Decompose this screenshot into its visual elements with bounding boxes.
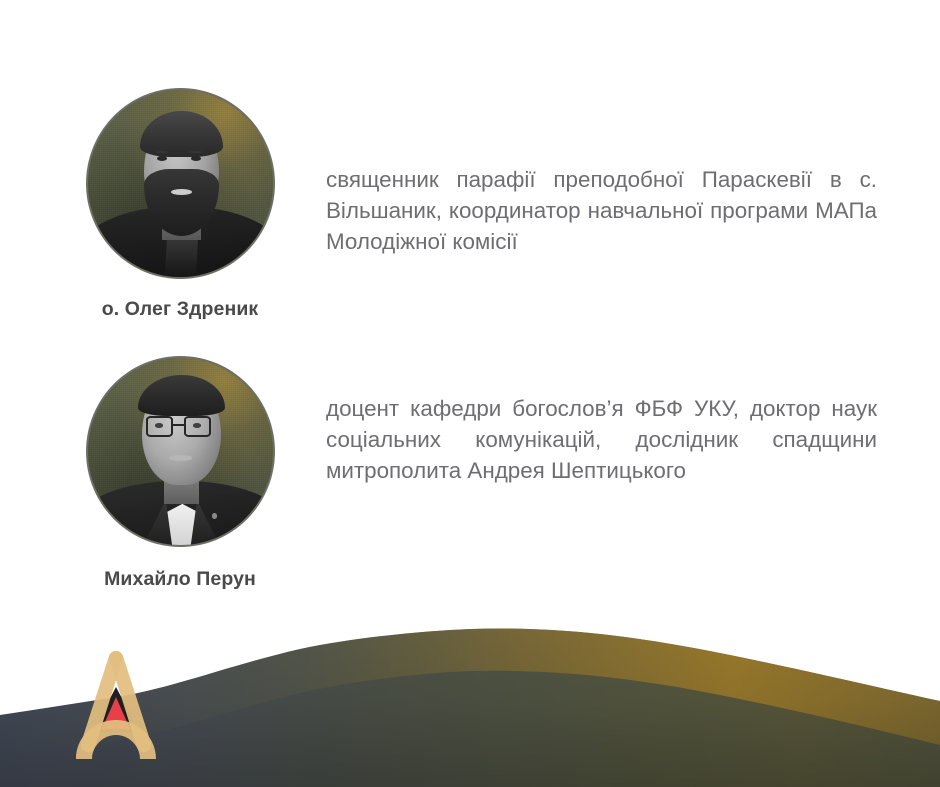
figure-hair <box>138 375 225 416</box>
portrait-figure-scholar <box>88 358 273 545</box>
speaker-description-2: доцент кафедри богослов’я ФБФ УКУ, докто… <box>326 394 877 486</box>
figure-eyeglass-bridge <box>173 424 184 426</box>
figure-eyeglass-left <box>146 416 173 437</box>
slide-canvas: о. Олег Здреник священник парафії препод… <box>0 0 940 787</box>
triangular-a-logo[interactable] <box>62 647 170 765</box>
figure-hair <box>140 111 223 158</box>
speaker-name-2: Михайло Перун <box>0 568 360 591</box>
portrait-frame-2 <box>88 358 273 545</box>
portrait-figure-priest <box>88 90 273 277</box>
logo-mark-svg <box>62 647 170 765</box>
figure-eyeglass-right <box>184 416 211 437</box>
speaker-name-1: о. Олег Здреник <box>0 298 360 321</box>
portrait-frame-1 <box>88 90 273 277</box>
avatar-oleh-zdrenyk <box>88 90 273 277</box>
figure-collar <box>165 236 199 277</box>
speaker-description-1: священник парафії преподобної Параскевії… <box>326 165 877 257</box>
figure-mouth <box>169 455 191 461</box>
figure-mouth <box>171 189 191 195</box>
avatar-mykhailo-perun <box>88 358 273 545</box>
